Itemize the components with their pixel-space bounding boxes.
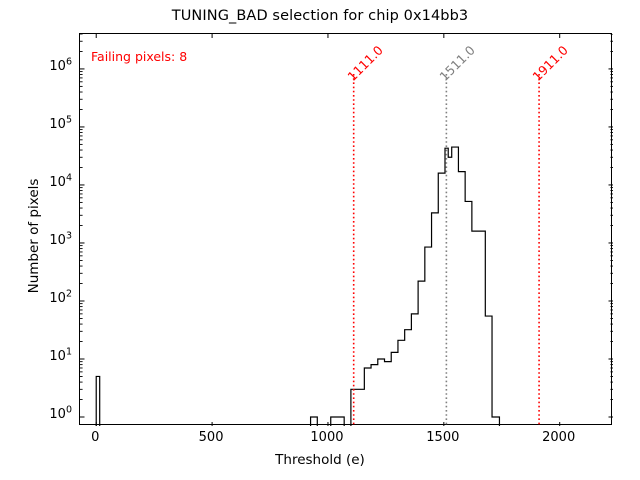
y-tick-mantissa: 10 bbox=[49, 117, 66, 132]
y-tick-mantissa: 10 bbox=[49, 175, 66, 190]
x-axis-ticks bbox=[96, 34, 559, 426]
plot-svg bbox=[80, 34, 613, 426]
y-axis-label: Number of pixels bbox=[26, 136, 42, 336]
y-tick-mantissa: 10 bbox=[49, 291, 66, 306]
x-tick-label: 1500 bbox=[413, 430, 473, 445]
y-tick-exponent: 6 bbox=[66, 57, 72, 68]
x-tick-label: 0 bbox=[65, 430, 125, 445]
y-tick-exponent: 5 bbox=[66, 115, 72, 126]
y-tick-label: 100 bbox=[26, 407, 72, 422]
y-axis-ticks bbox=[80, 34, 613, 417]
y-tick-exponent: 3 bbox=[66, 231, 72, 242]
y-tick-mantissa: 10 bbox=[49, 59, 66, 74]
y-tick-mantissa: 10 bbox=[49, 233, 66, 248]
y-tick-label: 105 bbox=[26, 117, 72, 132]
y-tick-exponent: 0 bbox=[66, 405, 72, 416]
histogram-series bbox=[96, 147, 499, 426]
vertical-threshold-lines bbox=[354, 74, 539, 426]
y-tick-exponent: 4 bbox=[66, 173, 72, 184]
chart-title: TUNING_BAD selection for chip 0x14bb3 bbox=[0, 8, 640, 24]
y-tick-mantissa: 10 bbox=[49, 349, 66, 364]
y-tick-exponent: 1 bbox=[66, 347, 72, 358]
plot-area bbox=[79, 33, 612, 425]
chart-figure: TUNING_BAD selection for chip 0x14bb3 Fa… bbox=[0, 0, 640, 480]
x-tick-label: 1000 bbox=[297, 430, 357, 445]
y-tick-label: 101 bbox=[26, 349, 72, 364]
failing-pixels-annotation: Failing pixels: 8 bbox=[91, 49, 187, 64]
y-tick-exponent: 2 bbox=[66, 289, 72, 300]
x-tick-label: 2000 bbox=[529, 430, 589, 445]
x-tick-label: 500 bbox=[181, 430, 241, 445]
y-tick-mantissa: 10 bbox=[49, 407, 66, 422]
y-tick-label: 106 bbox=[26, 59, 72, 74]
x-axis-label: Threshold (e) bbox=[0, 452, 640, 468]
